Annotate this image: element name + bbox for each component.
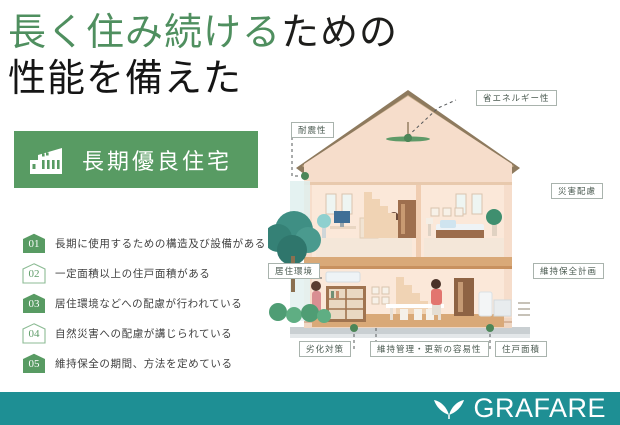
list-item: 03 居住環境などへの配慮が行われている	[22, 288, 272, 318]
callout-ease-of-upkeep: 維持管理・更新の容易性	[370, 341, 489, 357]
certification-label: 長期優良住宅	[82, 144, 232, 176]
callout-unit-area: 住戸面積	[495, 341, 547, 357]
list-item: 04 自然災害への配慮が講じられている	[22, 318, 272, 348]
point-unit-area	[486, 324, 494, 332]
requirement-text: 自然災害への配慮が講じられている	[55, 326, 232, 341]
requirement-badge-04: 04	[22, 323, 46, 344]
floor-slab	[304, 257, 512, 266]
requirement-text: 維持保全の期間、方法を定めている	[55, 356, 233, 371]
callout-energy-saving: 省エネルギー性	[476, 90, 557, 106]
headline-line-1-green: 長く住み続ける	[8, 12, 281, 54]
requirement-number: 04	[29, 326, 40, 340]
requirement-list: 01 長期に使用するための構造及び設備がある 02 一定面積以上の住戸面積がある…	[22, 228, 272, 378]
requirement-number: 01	[29, 236, 40, 250]
poster-root: 長く住み続けるための 性能を備えた 長期優良住宅	[0, 0, 620, 425]
requirement-text: 長期に使用するための構造及び設備がある	[55, 236, 266, 251]
requirement-text: 居住環境などへの配慮が行われている	[55, 296, 242, 311]
callout-living-env: 居住環境	[268, 263, 320, 279]
requirement-text: 一定面積以上の住戸面積がある	[55, 266, 210, 281]
callout-maintenance-plan: 維持保全計画	[533, 263, 604, 279]
list-item: 02 一定面積以上の住戸面積がある	[22, 258, 272, 288]
brand-bar: GRAFARE	[0, 392, 620, 425]
requirement-badge-02: 02	[22, 263, 46, 284]
callout-disaster: 災害配慮	[551, 183, 603, 199]
callout-earthquake: 耐震性	[291, 122, 334, 138]
water-heater-icon	[479, 292, 492, 316]
lower-door	[454, 278, 474, 316]
point-degradation	[350, 324, 358, 332]
utility-unit-icon	[494, 300, 511, 316]
brand-name: GRAFARE	[473, 395, 606, 422]
point-energy	[404, 134, 412, 142]
headline-line-1-tail: ための	[281, 12, 398, 54]
monitor-icon	[334, 211, 350, 223]
requirement-number: 02	[29, 266, 40, 280]
callout-degradation: 劣化対策	[299, 341, 351, 357]
leaf-wing-icon	[433, 398, 467, 420]
requirement-badge-03: 03	[22, 293, 46, 314]
requirement-number: 03	[29, 296, 40, 310]
requirement-number: 05	[29, 356, 40, 370]
air-conditioner-icon	[326, 272, 360, 282]
ground-slab	[290, 327, 530, 334]
list-item: 05 維持保全の期間、方法を定めている	[22, 348, 272, 378]
requirement-badge-01: 01	[22, 233, 46, 254]
requirement-badge-05: 05	[22, 353, 46, 374]
list-item: 01 長期に使用するための構造及び設備がある	[22, 228, 272, 258]
headline-line-1: 長く住み続けるための	[8, 10, 438, 56]
certification-banner: 長期優良住宅	[14, 131, 258, 188]
building-icon	[28, 142, 72, 178]
upper-door	[398, 200, 416, 238]
upper-left-floor	[316, 238, 412, 257]
point-earthquake	[301, 172, 309, 180]
